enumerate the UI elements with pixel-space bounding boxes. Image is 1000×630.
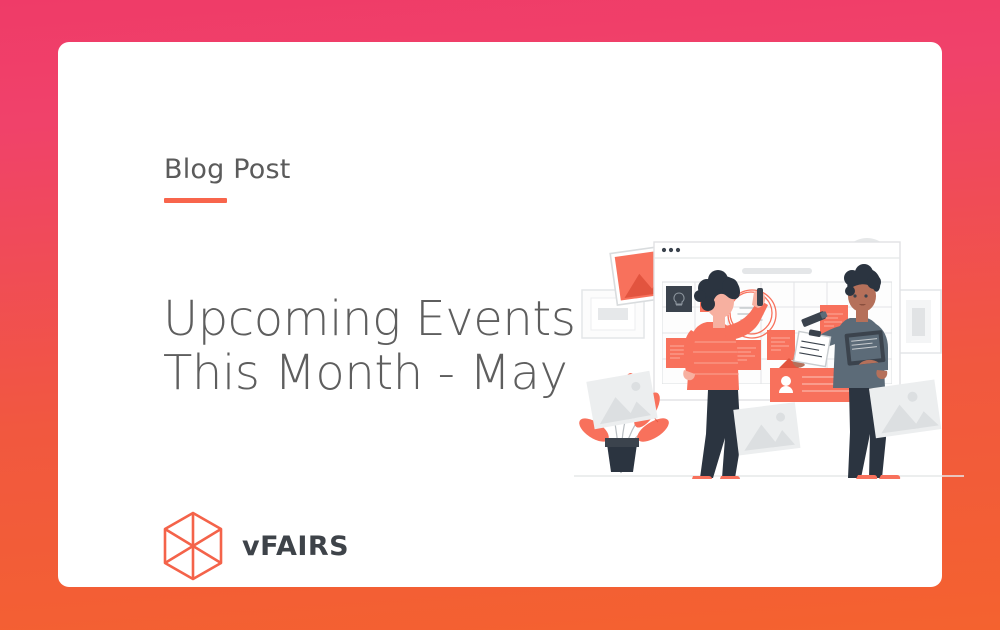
lightbulb-note bbox=[666, 286, 692, 312]
vfairs-hexagon-logo-icon bbox=[162, 511, 224, 581]
content-card: Blog Post Upcoming Events This Month - M… bbox=[58, 42, 942, 587]
eyebrow-label: Blog Post bbox=[164, 154, 291, 185]
brand-logo: vFAIRS bbox=[162, 511, 349, 581]
photo-frame-grey-center bbox=[733, 402, 800, 455]
brand-logo-text: vFAIRS bbox=[242, 531, 349, 562]
tablet-device bbox=[844, 330, 885, 366]
plant-pot bbox=[607, 444, 637, 472]
page-title: Upcoming Events This Month - May bbox=[163, 292, 593, 400]
woman-legs bbox=[700, 390, 741, 478]
hero-illustration bbox=[574, 230, 964, 482]
poster-canvas: Blog Post Upcoming Events This Month - M… bbox=[0, 0, 1000, 630]
vertical-wall-frame bbox=[896, 290, 941, 353]
eyebrow-underline bbox=[164, 198, 227, 203]
photo-frame-grey-right bbox=[869, 380, 941, 439]
sticky-note bbox=[767, 330, 795, 360]
board-title-bar bbox=[742, 268, 812, 274]
